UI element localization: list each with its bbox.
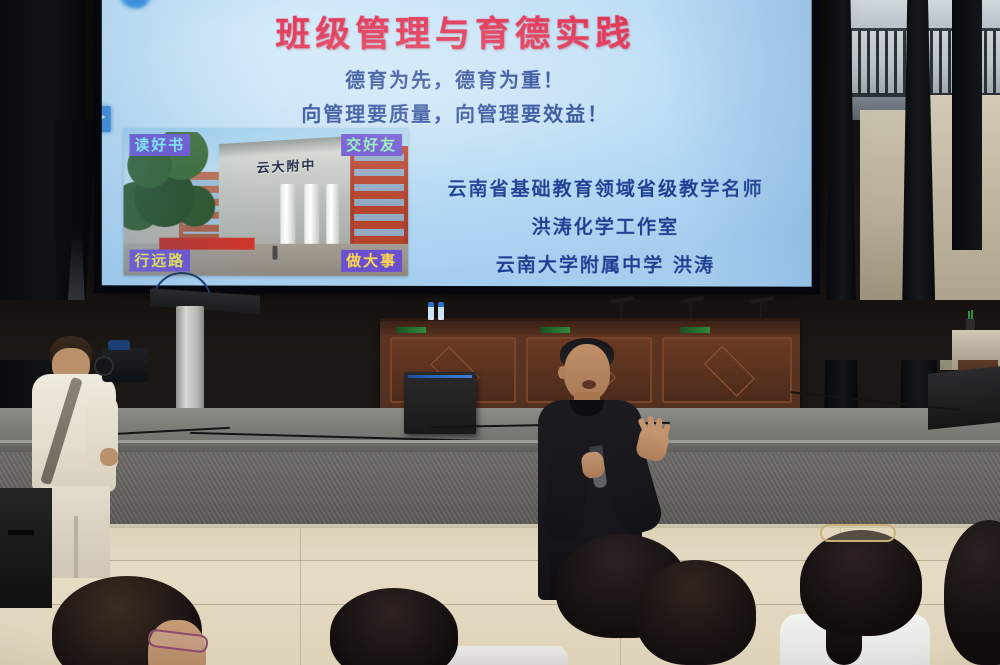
credit-line-1: 云南省基础教育领域省级教学名师 — [410, 174, 802, 201]
credit-line-3: 云南大学附属中学 洪涛 — [410, 250, 802, 278]
curtain-right-3 — [952, 0, 982, 250]
presenter-finger — [647, 416, 655, 431]
stage-granite-facing — [0, 452, 1000, 530]
video-camera-icon — [102, 348, 148, 382]
gooseneck-microphone — [620, 300, 622, 318]
equipment-case — [0, 488, 52, 608]
audience-head — [636, 560, 756, 665]
floor-monitor-speaker-right — [928, 366, 1000, 430]
photo-red-banner — [159, 238, 254, 250]
slide-credits: 云南省基础教育领域省级教学名师 洪涛化学工作室 云南大学附属中学 洪涛 — [410, 174, 802, 287]
slide-title: 班级管理与育德实践 — [102, 5, 812, 57]
presenter-mouth — [582, 380, 596, 389]
slide-subtitle-line-1: 德育为先，德育为重！ — [102, 64, 812, 94]
videographer-leg-gap — [74, 516, 78, 578]
hair-clip-icon — [820, 524, 896, 542]
photo-label-bottom-right: 做大事 — [341, 250, 402, 272]
presenter-finger — [661, 423, 671, 438]
photo-right-windows — [354, 154, 404, 246]
gooseneck-microphone — [760, 300, 762, 318]
photo-label-bottom-left: 行远路 — [130, 250, 191, 272]
audience-head — [800, 530, 922, 636]
water-bottle — [438, 302, 444, 320]
table-nameplate — [680, 327, 710, 333]
pen-cup — [966, 318, 975, 330]
table-nameplate — [396, 327, 426, 333]
videographer-hand — [100, 448, 118, 466]
photo-label-top-left: 读好书 — [130, 134, 191, 156]
presenter-hand-holding-mic — [580, 451, 605, 480]
audience-shirt — [448, 646, 568, 665]
presentation-slide: ▸ 班级管理与育德实践 德育为先，德育为重！ 向管理要质量，向管理要效益！ 云大… — [102, 0, 812, 287]
table-top-edge — [380, 321, 800, 335]
gooseneck-microphone — [690, 300, 692, 318]
table-panel — [662, 337, 792, 403]
school-photo: 云大附中 读好书 交好友 行远路 做大事 — [124, 128, 408, 276]
photo-label-top-right: 交好友 — [341, 134, 402, 156]
water-bottle — [428, 302, 434, 320]
table-nameplate — [540, 327, 570, 333]
floor-tile-line — [300, 528, 301, 665]
presenter-finger — [656, 418, 663, 432]
photo-pedestrian — [272, 246, 277, 260]
auditorium-photo: ▸ 班级管理与育德实践 德育为先，德育为重！ 向管理要质量，向管理要效益！ 云大… — [0, 0, 1000, 665]
credit-line-2: 洪涛化学工作室 — [410, 212, 802, 239]
slide-subtitle-line-2: 向管理要质量，向管理要效益！ — [102, 98, 812, 127]
presenter-ear — [558, 366, 567, 379]
projection-screen: ▸ 班级管理与育德实践 德育为先，德育为重！ 向管理要质量，向管理要效益！ 云大… — [94, 0, 820, 295]
